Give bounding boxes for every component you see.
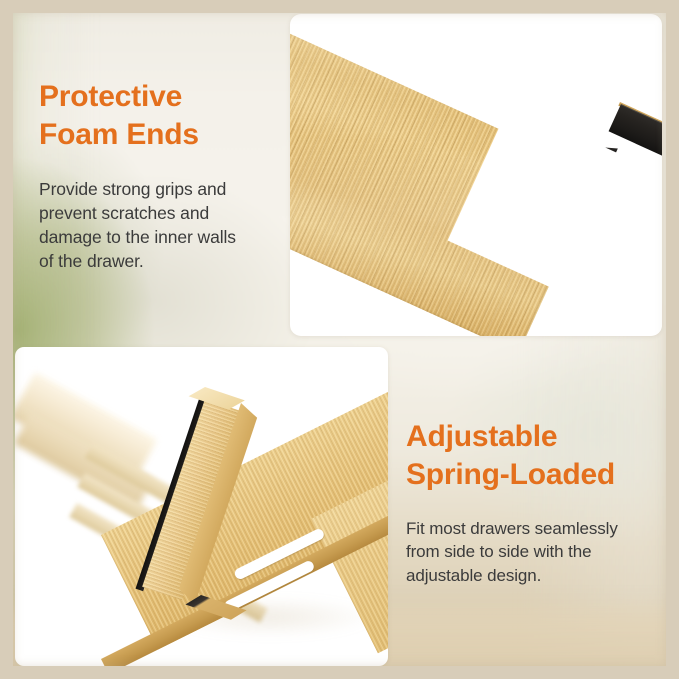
feature-headline-adjustable-spring-loaded: Adjustable Spring-Loaded (406, 418, 656, 495)
product-photo-adjustable-divider (15, 347, 388, 666)
product-photo-foam-end-board (290, 14, 662, 336)
feature-text-protective-foam-ends: Protective Foam Ends Provide strong grip… (39, 78, 284, 273)
feature-body-protective-foam-ends: Provide strong grips and prevent scratch… (39, 177, 284, 274)
feature-headline-protective-foam-ends: Protective Foam Ends (39, 78, 284, 155)
feature-text-adjustable-spring-loaded: Adjustable Spring-Loaded Fit most drawer… (406, 418, 656, 587)
infographic-canvas: Protective Foam Ends Provide strong grip… (0, 0, 679, 679)
drawer-divider-illustration (15, 347, 388, 666)
feature-body-adjustable-spring-loaded: Fit most drawers seamlessly from side to… (406, 517, 656, 587)
bamboo-board-illustration (290, 14, 662, 336)
